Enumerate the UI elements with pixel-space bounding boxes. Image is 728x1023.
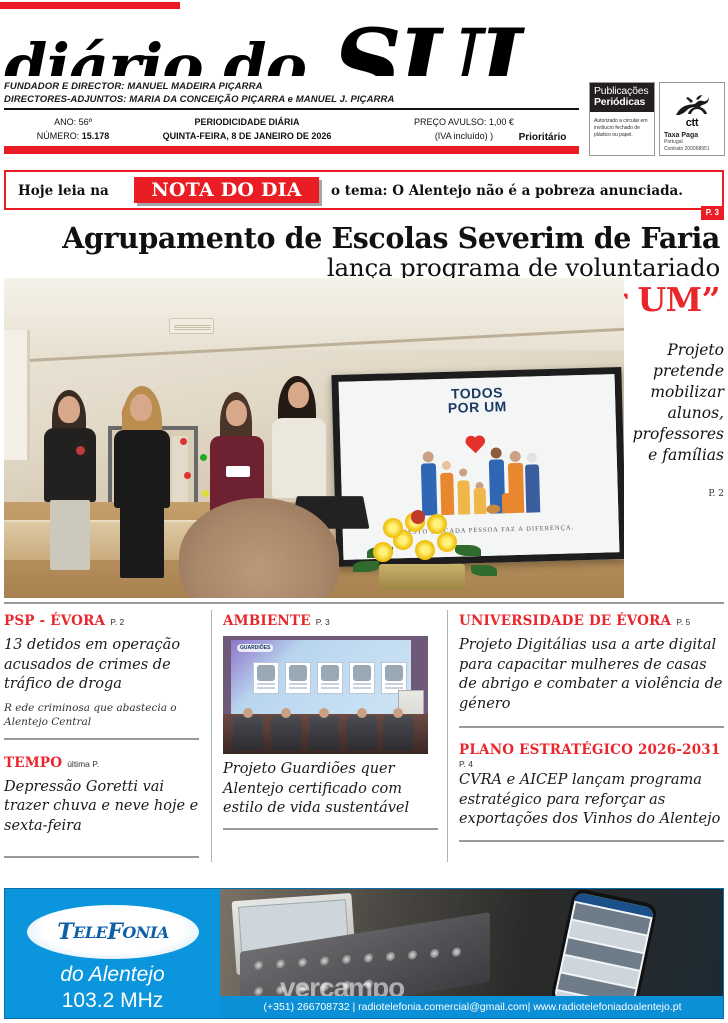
caption-line-2: mobilizar (630, 382, 724, 403)
caption-line-5: e famílias (630, 445, 724, 466)
publicacoes-periodicas-box: Publicações Periódicas Autorizado a circ… (589, 82, 655, 156)
teaser-plano-estrategico[interactable]: PLANO ESTRATÉGICO 2026-2031 P. 4 CVRA e … (459, 741, 724, 842)
ad-brand-t: T (57, 919, 73, 945)
advertisement-banner[interactable]: TELEFONIA do Alentejo 103.2 MHz (4, 888, 724, 1019)
ad-contact-bar[interactable]: (+351) 266708732 | radiotelefonia.comerc… (220, 996, 724, 1018)
ctt-horse-rider-icon: ctt (660, 83, 724, 129)
headline-line-1: Agrupamento de Escolas Severim de Faria (0, 222, 720, 254)
teaser-divider (4, 856, 199, 858)
ad-subtitle: do Alentejo (5, 963, 220, 987)
credits-block: FUNDADOR E DIRECTOR: MANUEL MADEIRA PIÇA… (4, 80, 579, 106)
photo-person-1 (42, 390, 100, 570)
teaser-deck: CVRA e AICEP lançam programa estratégico… (459, 771, 724, 830)
photo-flower-arrangement (349, 490, 499, 590)
issue-year: ANO: 56º (18, 115, 128, 129)
teaser-ambiente[interactable]: AMBIENTEP. 3 GUARDIÕES (223, 612, 438, 830)
teaser-tempo[interactable]: TEMPOúltima P. Depressão Goretti vai tra… (4, 754, 199, 859)
teaser-psp-evora[interactable]: PSP - ÉVORAP. 2 13 detidos em operação a… (4, 612, 199, 740)
teaser-page: P. 5 (676, 617, 690, 627)
caption-page-ref: P. 2 (630, 484, 724, 505)
taxa-paga-title: Taxa Paga (664, 132, 698, 139)
caption-line-0: Projeto (630, 340, 724, 361)
nota-do-dia-strip[interactable]: Hoje leia na NOTA DO DIA o tema: O Alent… (4, 170, 724, 210)
masthead-red-bar (4, 146, 579, 154)
publicacoes-line2: Periódicas (594, 97, 650, 108)
masthead-title-light: diário do (4, 30, 327, 76)
nota-prefix: Hoje leia na (18, 183, 109, 199)
nota-topic: o tema: O Alentejo não é a pobreza anunc… (331, 183, 683, 199)
bottom-sections: PSP - ÉVORAP. 2 13 detidos em operação a… (4, 602, 724, 870)
photo-flower-pot (379, 564, 465, 590)
founder-line: FUNDADOR E DIRECTOR: MANUEL MADEIRA PIÇA… (4, 80, 579, 93)
masthead-title-bold: SUL (333, 8, 542, 76)
teaser-deck: Projeto Guardiões quer Alentejo certific… (223, 760, 438, 819)
projection-logo: GUARDIÕES (237, 644, 273, 652)
publicacoes-note: Autorizado a circular em invólucro fecha… (590, 112, 654, 145)
ad-brand-onia: ONIA (122, 923, 168, 942)
caption-line-3: alunos, (630, 403, 724, 424)
issue-date: QUINTA-FEIRA, 8 DE JANEIRO DE 2026 (132, 129, 362, 143)
teaser-head: TEMPOúltima P. (4, 754, 199, 772)
issue-number-line: NÚMERO: 15.178 (18, 129, 128, 143)
teaser-divider (4, 738, 199, 740)
taxa-paga-contract: Contrato 200068951 (664, 146, 720, 153)
teaser-divider (223, 828, 438, 830)
photo-door (4, 330, 30, 460)
teaser-head: AMBIENTEP. 3 (223, 612, 438, 630)
teaser-head: UNIVERSIDADE DE ÉVORAP. 5 (459, 612, 724, 630)
lead-photo-caption: Projeto pretende mobilizar alunos, profe… (630, 340, 724, 505)
deputy-line: DIRECTORES-ADJUNTOS: MARIA DA CONCEIÇÃO … (4, 93, 579, 106)
column-divider-2 (447, 610, 448, 862)
photo-person-2 (112, 386, 174, 576)
photo-air-conditioner (169, 318, 214, 334)
section-column-2: AMBIENTEP. 3 GUARDIÕES (223, 612, 438, 830)
teaser-kicker: PSP - ÉVORA (4, 613, 105, 629)
section-column-1: PSP - ÉVORAP. 2 13 detidos em operação a… (4, 612, 199, 858)
teaser-divider (459, 840, 724, 842)
teaser-divider (459, 726, 724, 728)
issue-year-number: ANO: 56º NÚMERO: 15.178 (18, 115, 128, 143)
teaser-kicker: AMBIENTE (223, 613, 311, 629)
nota-page-badge: P. 3 (701, 206, 724, 220)
masthead: diário do SUL (0, 4, 728, 76)
newspaper-front-page: diário do SUL FUNDADOR E DIRECTOR: MANUE… (0, 0, 728, 1023)
teaser-universidade-evora[interactable]: UNIVERSIDADE DE ÉVORAP. 5 Projeto Digitá… (459, 612, 724, 728)
credits-divider (4, 108, 579, 110)
ad-logo-panel: TELEFONIA do Alentejo 103.2 MHz (5, 889, 220, 1018)
teaser-deck: Projeto Digitálias usa a arte digital pa… (459, 636, 724, 714)
teaser-kicker: PLANO ESTRATÉGICO 2026-2031 (459, 742, 721, 758)
teaser-page: P. 2 (110, 617, 124, 627)
teaser-head: PLANO ESTRATÉGICO 2026-2031 P. 4 (459, 741, 724, 769)
teaser-photo-ambiente: GUARDIÕES (223, 636, 428, 754)
issue-info-row: ANO: 56º NÚMERO: 15.178 PERIODICIDADE DI… (4, 112, 579, 146)
teaser-kicker: UNIVERSIDADE DE ÉVORA (459, 613, 671, 629)
taxa-paga-country: Portugal (664, 139, 720, 146)
ctt-box: ctt Taxa Paga Portugal Contrato 20006895… (659, 82, 725, 156)
column-divider-1 (211, 610, 212, 862)
issue-periodicity-date: PERIODICIDADE DIÁRIA QUINTA-FEIRA, 8 DE … (132, 115, 362, 143)
issue-number-label: NÚMERO: (37, 131, 80, 141)
ad-frequency: 103.2 MHz (5, 989, 220, 1013)
founder-name: MANUEL MADEIRA PIÇARRA (127, 81, 262, 92)
ad-brand-ele: ELE (73, 923, 107, 942)
teaser-deck: 13 detidos em operação acusados de crime… (4, 636, 199, 695)
slide-title: TODOS POR UM (447, 385, 507, 415)
issue-periodicity: PERIODICIDADE DIÁRIA (132, 115, 362, 129)
slide-title-line2: POR UM (448, 398, 507, 416)
photo-projection-screen: GUARDIÕES (231, 640, 411, 716)
issue-price-label: PREÇO AVULSO: 1,00 € (364, 115, 564, 129)
prioritario-label: Prioritário (500, 132, 585, 143)
teaser-kicker: TEMPO (4, 755, 62, 771)
section-top-divider (4, 602, 724, 604)
ctt-wordmark: ctt (660, 117, 724, 129)
teaser-deck: Depressão Goretti vai trazer chuva e nev… (4, 778, 199, 837)
teaser-page: P. 4 (459, 759, 724, 769)
issue-number-value: 15.178 (82, 131, 110, 141)
section-column-3: UNIVERSIDADE DE ÉVORAP. 5 Projeto Digitá… (459, 612, 724, 842)
teaser-page: última P. (67, 759, 99, 769)
teaser-subdeck: R ede criminosa que abastecia o Alentejo… (4, 701, 199, 729)
photo-ceiling (4, 278, 624, 350)
founder-label: FUNDADOR E DIRECTOR: (4, 81, 125, 92)
teaser-head: PSP - ÉVORAP. 2 (4, 612, 199, 630)
ad-brand-name: TELEFONIA (27, 905, 199, 959)
lead-photo: TODOS POR UM (4, 278, 624, 598)
postal-boxes: Publicações Periódicas Autorizado a circ… (589, 82, 725, 156)
nota-do-dia-badge[interactable]: NOTA DO DIA (134, 177, 319, 203)
publicacoes-header: Publicações Periódicas (590, 83, 654, 112)
masthead-title: diário do SUL (4, 4, 535, 76)
ad-brand-f: F (107, 919, 122, 945)
caption-line-1: pretende (630, 361, 724, 382)
deputy-names: MARIA DA CONCEIÇÃO PIÇARRA e MANUEL J. P… (129, 94, 394, 105)
teaser-page: P. 3 (316, 617, 330, 627)
deputy-label: DIRECTORES-ADJUNTOS: (4, 94, 127, 105)
ad-logo-ellipse: TELEFONIA (27, 905, 199, 959)
caption-line-4: professores (630, 424, 724, 445)
taxa-paga-block: Taxa Paga Portugal Contrato 200068951 (660, 129, 724, 156)
heart-icon (464, 436, 487, 457)
